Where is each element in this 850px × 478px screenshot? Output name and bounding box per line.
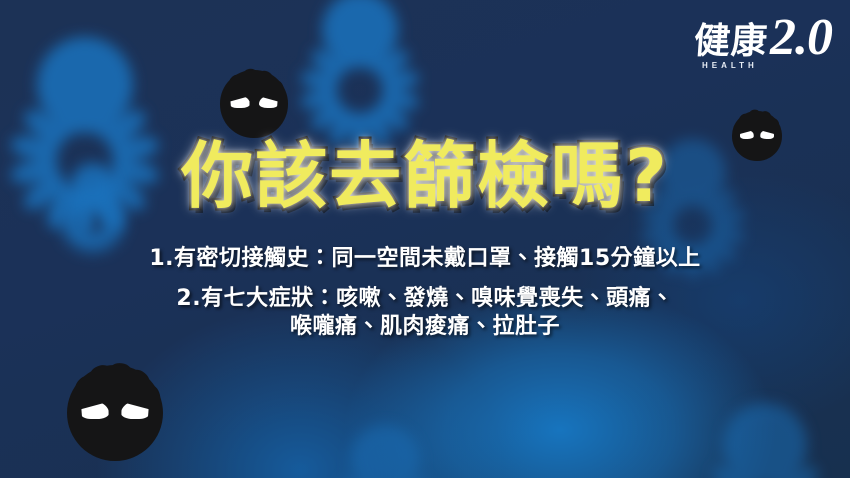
bg-virus-top-center (300, 0, 420, 90)
bg-virus-spike (757, 445, 774, 478)
virus-eye-left (230, 96, 249, 108)
bg-virus-bottom-right (700, 380, 830, 478)
virus-eye-right (259, 96, 278, 108)
bg-virus-spike (378, 460, 392, 478)
virus-eye-left (740, 130, 754, 139)
bg-virus-top-left (10, 10, 160, 160)
body-line-3: 喉嚨痛、肌肉痠痛、拉肚子 (0, 316, 850, 338)
brand-logo: 健康 2.0 HEALTH (694, 16, 832, 70)
body-copy: 1.有密切接觸史：同一空間未戴口罩、接觸15分鐘以上 2.有七大症狀：咳嗽、發燒… (0, 248, 850, 356)
body-line-1: 1.有密切接觸史：同一空間未戴口罩、接觸15分鐘以上 (0, 248, 850, 270)
page-title: 你該去篩檢嗎? (0, 140, 850, 212)
logo-cjk-text: 健康 (693, 24, 770, 60)
body-line-2: 2.有七大症狀：咳嗽、發燒、嗅味覺喪失、頭痛、 (0, 288, 850, 310)
logo-number-text: 2.0 (770, 16, 832, 60)
virus-eye-right (121, 402, 148, 420)
poster-canvas: 健康 2.0 HEALTH 你該去篩檢嗎? 1.有密切接觸史：同一空間未戴口罩、… (0, 0, 850, 478)
logo-subtitle: HEALTH (694, 62, 774, 70)
virus-eye-right (760, 130, 774, 139)
virus-eye-left (81, 402, 108, 420)
bg-virus-bottom-mid (330, 405, 440, 478)
